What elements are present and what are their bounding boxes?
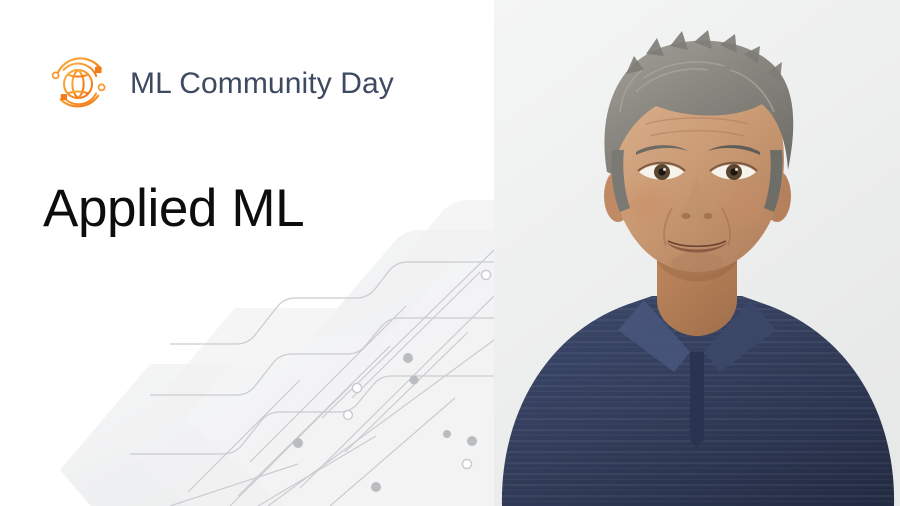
decor-diagonal-lines (170, 250, 494, 506)
decor-band-group (60, 200, 494, 506)
left-content-panel: ML Community Day Applied ML (0, 0, 494, 506)
placket (690, 352, 704, 448)
decor-trace-lines (130, 262, 494, 454)
logo-node-ring-right (99, 84, 105, 90)
speaker-portrait-image (494, 0, 900, 506)
brand-logo-lockup: ML Community Day (40, 46, 394, 122)
logo-node-ring-left (53, 72, 59, 78)
logo-node-square-top (95, 67, 102, 74)
globe-orbit-logo-icon (40, 46, 116, 122)
decor-node-dot-hollow (344, 270, 491, 468)
logo-node-square-bottom (61, 94, 67, 100)
brand-wordmark: ML Community Day (130, 69, 394, 99)
speaker-portrait-panel (494, 0, 900, 506)
decor-node-dot-filled (293, 353, 477, 492)
page-title: Applied ML (43, 179, 304, 238)
slide-root: ML Community Day Applied ML (0, 0, 900, 506)
